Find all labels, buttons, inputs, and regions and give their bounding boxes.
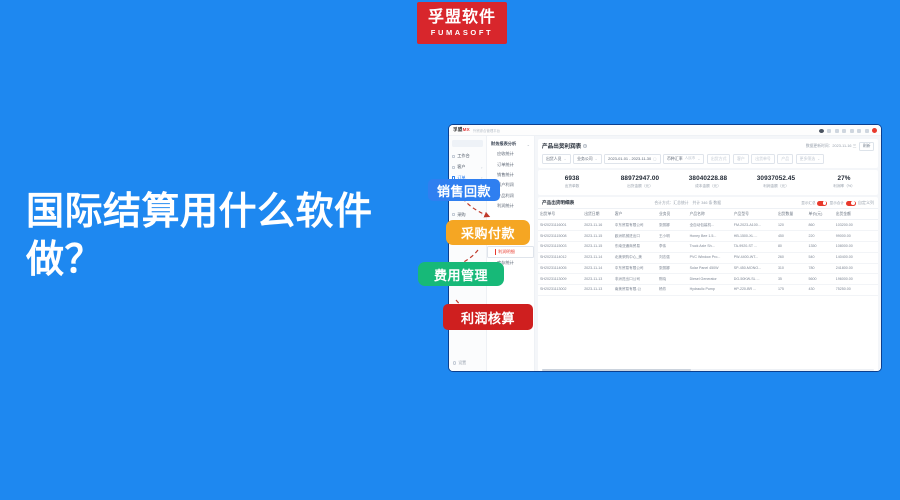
- column-header[interactable]: 单价(元): [807, 209, 834, 219]
- cell: 860: [807, 220, 834, 230]
- cell: FM-2023-A100...: [732, 220, 776, 230]
- stats-row: 6938 出货单数 88972947.00 出货金额（元） 38040228.8…: [538, 170, 878, 195]
- cell: 35: [776, 274, 807, 284]
- main-content: 产品出货利润表 ? 数据更新时间：2023-11-16 三 刷新 出货人员⌄ 业…: [535, 136, 881, 371]
- sidebar-item-label: 采购: [457, 212, 465, 218]
- cell: 80: [776, 242, 807, 252]
- app-logo: 孚盟MX: [453, 127, 470, 133]
- stat-value: 30937052.45: [742, 175, 810, 182]
- calendar-icon: ▢: [653, 157, 656, 161]
- stat-label: 利润金额（元）: [742, 184, 810, 189]
- stat-value: 38040228.88: [674, 175, 742, 182]
- cell: 2023-11-14: [582, 264, 613, 274]
- cell: SH20231115003: [538, 242, 582, 252]
- stat-card-1: 88972947.00 出货金额（元）: [606, 175, 674, 189]
- table-toolbar: 产品出货明细表 合计方式：汇总统计 共计 346 条 数据 显示汇总 显示合计: [538, 197, 878, 208]
- cell: 241800.00: [834, 264, 878, 274]
- chevron-down-icon: ⌄: [697, 157, 700, 161]
- table-row[interactable]: SH20231115008 2023-11-15 欧洲机械进出口 王小明 Hon…: [538, 231, 878, 242]
- maximize-icon[interactable]: [865, 129, 869, 133]
- toggle-label: 显示合计: [830, 201, 844, 206]
- table-row[interactable]: SH20231115003 2023-11-15 东南亚通商贸易 李伟 Truc…: [538, 242, 878, 253]
- toggle-show-total[interactable]: 显示合计: [830, 201, 856, 206]
- badge-sales-collection: 销售回款: [428, 179, 500, 201]
- cell: 中东贸易有限公司: [613, 264, 657, 274]
- stat-label: 出货金额（元）: [606, 184, 674, 189]
- cell: 99000.00: [834, 231, 878, 241]
- cell: 王小明: [657, 231, 688, 241]
- cell: PVC Window Pro...: [688, 253, 732, 263]
- refresh-button[interactable]: 刷新: [859, 142, 874, 151]
- cell: 2023-11-15: [582, 231, 613, 241]
- brand-logo: 孚盟软件 FUMASOFT: [417, 2, 507, 44]
- stat-value: 88972947.00: [606, 175, 674, 182]
- aggregate-mode-label[interactable]: 合计方式：汇总统计: [654, 201, 688, 206]
- chevron-down-icon: ⌄: [564, 157, 567, 161]
- table-summary-info: 合计方式：汇总统计 共计 346 条 数据: [578, 201, 797, 206]
- cell: 张丽娜: [657, 264, 688, 274]
- cell: 中东贸易有限公司: [613, 220, 657, 230]
- stat-label: 成本金额（元）: [674, 184, 742, 189]
- submenu-item-1[interactable]: 订单统计: [487, 159, 534, 169]
- gear-icon: [453, 361, 456, 364]
- cell: 120: [776, 220, 807, 230]
- window-controls: [819, 125, 878, 136]
- help-icon[interactable]: [842, 129, 846, 133]
- data-table-card: 产品出货明细表 合计方式：汇总统计 共计 346 条 数据 显示汇总 显示合计: [538, 197, 878, 371]
- primary-sidebar: 工作台 客户 › 订单 › 采购 › 财务 ›: [449, 136, 487, 371]
- cell: SH20231115008: [538, 231, 582, 241]
- cell: Honey Bee 1.5...: [688, 231, 732, 241]
- user-avatar-icon[interactable]: [819, 129, 824, 133]
- cell: 杨芳: [657, 285, 688, 295]
- sidebar-item-0[interactable]: 工作台: [449, 151, 486, 162]
- report-title-text: 产品出货利润表: [542, 142, 581, 150]
- toggle-label: 显示汇总: [801, 201, 815, 206]
- filter-date-range[interactable]: 2023-01-01 - 2023-11-30▢: [604, 154, 660, 164]
- cell: 220: [807, 231, 834, 241]
- grid-icon[interactable]: [850, 129, 854, 133]
- column-header[interactable]: 产品名称: [688, 209, 732, 219]
- cell: TA-9920-ST ...: [732, 242, 776, 252]
- sidebar-item-label: 客户: [457, 164, 465, 170]
- workbench-icon: [452, 155, 455, 158]
- stat-value: 6938: [538, 175, 606, 182]
- sidebar-settings-label: 设置: [458, 360, 466, 366]
- cell: SH20231114005: [538, 264, 582, 274]
- cell: 540: [807, 253, 834, 263]
- report-header: 产品出货利润表 ? 数据更新时间：2023-11-16 三 刷新 出货人员⌄ 业…: [538, 139, 878, 168]
- submenu-group-label: 财务报表分析: [491, 141, 516, 147]
- app-window-screenshot: 孚盟MX 外贸综合管理平台 工作台 客户 ›: [448, 124, 882, 372]
- column-settings-button[interactable]: 自定义列: [858, 200, 874, 206]
- cell: 75250.00: [834, 285, 878, 295]
- filter-shipment-no[interactable]: 出货单号: [751, 154, 775, 165]
- purchase-icon: [452, 213, 455, 216]
- cell: Hydraulic Pump: [688, 285, 732, 295]
- table-body: SH20231116001 2023-11-16 中东贸易有限公司 张丽娜 全自…: [538, 220, 878, 368]
- cell: 780: [807, 264, 834, 274]
- table-row[interactable]: SH20231114012 2023-11-14 北美采购中心_美 刘志强 PV…: [538, 253, 878, 264]
- cell: 欧洲机械进出口: [613, 231, 657, 241]
- report-meta: 数据更新时间：2023-11-16 三 刷新: [806, 142, 874, 151]
- column-header[interactable]: 客户: [613, 209, 657, 219]
- table-toggles: 显示汇总 显示合计 自定义列: [801, 200, 874, 206]
- cell: HP-220-BR ...: [732, 285, 776, 295]
- cell: 非洲进出口公司: [613, 274, 657, 284]
- table-row[interactable]: SH20231116001 2023-11-16 中东贸易有限公司 张丽娜 全自…: [538, 220, 878, 231]
- cell: HB-1500-XL ...: [732, 231, 776, 241]
- badge-profit-accounting: 利润核算: [443, 304, 533, 330]
- cell: 1350: [807, 242, 834, 252]
- column-header[interactable]: 出货数量: [776, 209, 807, 219]
- customer-icon: [452, 166, 455, 169]
- cell: Diesel Generator: [688, 274, 732, 284]
- sidebar-search-input[interactable]: [452, 140, 483, 147]
- record-count-label: 共计 346 条 数据: [693, 201, 721, 206]
- cell: 南美贸易有限-公: [613, 285, 657, 295]
- cell: SH20231113002: [538, 285, 582, 295]
- switch-track[interactable]: [846, 201, 856, 206]
- column-header[interactable]: 出货金额: [834, 209, 878, 219]
- cell: 260: [776, 253, 807, 263]
- horizontal-scrollbar[interactable]: [542, 369, 874, 371]
- submenu-item-5[interactable]: 利润统计: [487, 201, 534, 211]
- help-circle-icon[interactable]: ?: [583, 144, 587, 148]
- switch-track[interactable]: [817, 201, 827, 206]
- cell: PW-4400-WT...: [732, 253, 776, 263]
- badge-purchase-payment: 采购付款: [446, 220, 530, 245]
- close-icon[interactable]: [872, 128, 877, 133]
- app-subtitle: 外贸综合管理平台: [473, 128, 500, 133]
- cell: 103200.00: [834, 220, 878, 230]
- stat-label: 出货单数: [538, 184, 606, 189]
- sidebar-settings[interactable]: 设置: [453, 360, 466, 366]
- cell: 196000.00: [834, 274, 878, 284]
- brand-name-en: FUMASOFT: [431, 28, 493, 38]
- table-header-row: 出货单号 出货日期 客户 业务员 产品名称 产品型号 出货数量 单价(元) 出货…: [538, 208, 878, 220]
- brand-name-cn: 孚盟软件: [428, 9, 496, 27]
- badge-expense-management: 费用管理: [418, 262, 504, 286]
- filter-product[interactable]: 产品: [777, 154, 793, 165]
- stat-card-3: 30937052.45 利润金额（元）: [742, 175, 810, 189]
- secondary-sidebar: 财务报表分析 ⌄ 应收统计 订单统计 销售统计 客户利润 产品利润 利润统计 统…: [487, 136, 535, 371]
- cell: Truck Axle Sh...: [688, 242, 732, 252]
- chevron-right-icon: ›: [481, 165, 482, 170]
- filter-more[interactable]: 更多筛选⌄: [796, 154, 825, 165]
- cell: 2023-11-15: [582, 242, 613, 252]
- submenu-item-7[interactable]: 利润明细: [487, 246, 534, 258]
- cell: 陈晓: [657, 274, 688, 284]
- cell: 李伟: [657, 242, 688, 252]
- filter-customer[interactable]: 客户: [733, 154, 749, 165]
- cell: 2023-11-13: [582, 285, 613, 295]
- stat-card-4: 27% 利润率（%）: [810, 175, 878, 189]
- cell: 东南亚通商贸易: [613, 242, 657, 252]
- table-row[interactable]: SH20231113002 2023-11-13 南美贸易有限-公 杨芳 Hyd…: [538, 285, 878, 296]
- column-header[interactable]: 业务员: [657, 209, 688, 219]
- update-time-text: 数据更新时间：2023-11-16 三: [806, 144, 857, 149]
- cell: Solar Panel 450W: [688, 264, 732, 274]
- cell: 5600: [807, 274, 834, 284]
- bell-icon[interactable]: [827, 129, 831, 133]
- stat-value: 27%: [810, 175, 878, 182]
- sidebar-item-3[interactable]: 采购 ›: [449, 209, 486, 220]
- filter-bar: 出货人员⌄ 业务公司⌄ 2023-01-01 - 2023-11-30▢ 币种汇…: [542, 154, 874, 165]
- stat-card-0: 6938 出货单数: [538, 175, 606, 189]
- cell: SH20231113009: [538, 274, 582, 284]
- cell: 刘志强: [657, 253, 688, 263]
- filter-shipping-method[interactable]: 出货方式: [707, 154, 731, 165]
- table-row[interactable]: SH20231114005 2023-11-14 中东贸易有限公司 张丽娜 So…: [538, 264, 878, 275]
- cell: 108000.00: [834, 242, 878, 252]
- chevron-down-icon: ⌄: [527, 142, 530, 147]
- app-titlebar: 孚盟MX 外贸综合管理平台: [449, 125, 881, 136]
- column-header[interactable]: 产品型号: [732, 209, 776, 219]
- cell: DG-50KW-SL ...: [732, 274, 776, 284]
- table-section-title: 产品出货明细表: [542, 200, 574, 206]
- cell: 140400.00: [834, 253, 878, 263]
- toggle-show-summary[interactable]: 显示汇总: [801, 201, 827, 206]
- submenu-item-0[interactable]: 应收统计: [487, 149, 534, 159]
- filter-salesperson[interactable]: 出货人员⌄: [542, 154, 571, 165]
- message-icon[interactable]: [835, 129, 839, 133]
- cell: 北美采购中心_美: [613, 253, 657, 263]
- sidebar-item-1[interactable]: 客户 ›: [449, 162, 486, 173]
- submenu-group-1[interactable]: 财务报表分析 ⌄: [487, 139, 534, 149]
- minimize-icon[interactable]: [857, 129, 861, 133]
- cell: 全自动包装机...: [688, 220, 732, 230]
- page-title: 国际结算用什么软件做？: [26, 188, 446, 284]
- cell: 310: [776, 264, 807, 274]
- chevron-right-icon: ›: [481, 212, 482, 217]
- column-header[interactable]: 出货单号: [538, 209, 582, 219]
- filter-company[interactable]: 业务公司⌄: [573, 154, 602, 165]
- cell: 2023-11-16: [582, 220, 613, 230]
- sidebar-item-label: 工作台: [457, 153, 470, 159]
- stat-card-2: 38040228.88 成本金额（元）: [674, 175, 742, 189]
- cell: SH20231114012: [538, 253, 582, 263]
- cell: 430: [807, 285, 834, 295]
- chevron-down-icon: ⌄: [817, 157, 820, 161]
- report-title: 产品出货利润表 ?: [542, 142, 587, 150]
- cell: SH20231116001: [538, 220, 582, 230]
- cell: 450: [776, 231, 807, 241]
- chevron-down-icon: ⌄: [595, 157, 598, 161]
- cell: SP-450-MONO...: [732, 264, 776, 274]
- column-header[interactable]: 出货日期: [582, 209, 613, 219]
- cell: 2023-11-14: [582, 253, 613, 263]
- cell: 张丽娜: [657, 220, 688, 230]
- filter-currency[interactable]: 币种汇率人民币⌄: [663, 154, 704, 165]
- app-body: 工作台 客户 › 订单 › 采购 › 财务 ›: [449, 136, 881, 371]
- table-row[interactable]: SH20231113009 2023-11-13 非洲进出口公司 陈晓 Dies…: [538, 274, 878, 285]
- cell: 2023-11-13: [582, 274, 613, 284]
- cell: 175: [776, 285, 807, 295]
- stat-label: 利润率（%）: [810, 184, 878, 189]
